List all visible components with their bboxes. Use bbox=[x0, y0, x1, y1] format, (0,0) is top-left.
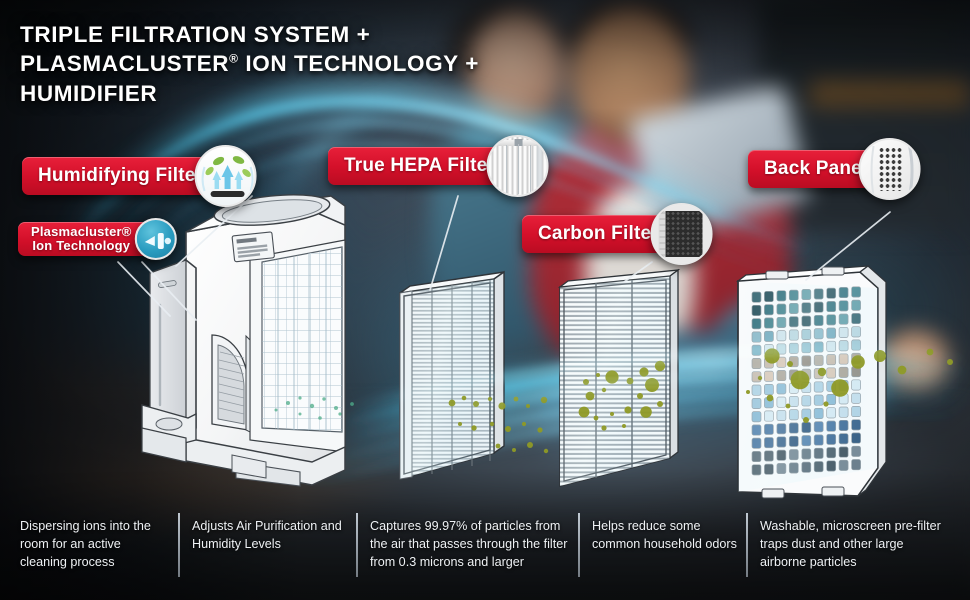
callout-back-panel[interactable]: Back Panel bbox=[748, 150, 897, 188]
caption-hepa: Captures 99.97% of particles from the ai… bbox=[370, 518, 572, 572]
caption-ions: Dispersing ions into the room for an act… bbox=[20, 518, 170, 572]
infographic-canvas: TRIPLE FILTRATION SYSTEM + PLASMACLUSTER… bbox=[0, 0, 970, 600]
carbon-filter-panel bbox=[560, 270, 678, 486]
plasmacluster-ion-icon bbox=[134, 218, 176, 260]
caption-carbon: Helps reduce some common household odors bbox=[592, 518, 742, 554]
humidifying-filter-icon bbox=[195, 145, 257, 207]
caption-humidity: Adjusts Air Purification and Humidity Le… bbox=[192, 518, 350, 554]
caption-divider-1 bbox=[178, 513, 180, 577]
back-panel-icon bbox=[859, 138, 921, 200]
caption-divider-2 bbox=[356, 513, 358, 577]
carbon-filter-icon bbox=[650, 203, 712, 265]
plasmacluster-line-1: Plasmacluster® bbox=[31, 225, 132, 239]
title-line-2-rest: ION TECHNOLOGY + bbox=[239, 51, 479, 76]
caption-divider-4 bbox=[746, 513, 748, 577]
back-panel-screen bbox=[738, 266, 886, 498]
title-line-1: TRIPLE FILTRATION SYSTEM + bbox=[20, 20, 580, 49]
plasmacluster-line-2: Ion Technology bbox=[32, 239, 130, 253]
hepa-filter-panel bbox=[400, 272, 504, 479]
callout-plasmacluster-ion-technology[interactable]: Plasmacluster® Ion Technology bbox=[18, 220, 160, 258]
humidifying-filter-panel bbox=[142, 260, 196, 462]
title-plasmacluster: PLASMACLUSTER bbox=[20, 51, 229, 76]
callout-carbon-filter[interactable]: Carbon Filter bbox=[522, 215, 689, 253]
caption-divider-3 bbox=[578, 513, 580, 577]
callout-true-hepa-filter[interactable]: True HEPA Filter bbox=[328, 147, 525, 185]
registered-mark-icon: ® bbox=[229, 52, 238, 66]
title-line-2: PLASMACLUSTER® ION TECHNOLOGY + bbox=[20, 49, 580, 78]
caption-backpanel: Washable, microscreen pre-filter traps d… bbox=[760, 518, 950, 572]
page-title: TRIPLE FILTRATION SYSTEM + PLASMACLUSTER… bbox=[20, 20, 580, 108]
title-line-3: HUMIDIFIER bbox=[20, 79, 580, 108]
callout-humidifying-filter[interactable]: Humidifying Filter bbox=[22, 157, 233, 195]
air-purifier-unit bbox=[186, 190, 345, 486]
hepa-filter-icon bbox=[487, 135, 549, 197]
caption-row: Dispersing ions into the room for an act… bbox=[0, 504, 970, 600]
